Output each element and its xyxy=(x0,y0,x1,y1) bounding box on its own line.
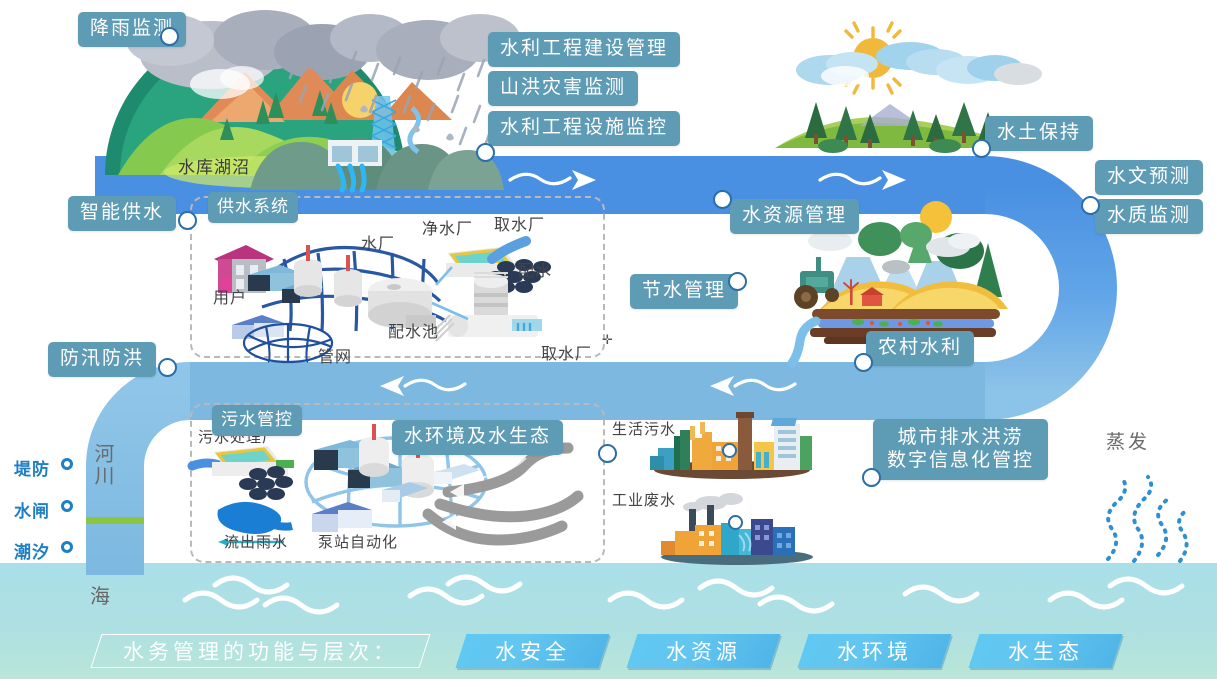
mouse-cursor: ✛ xyxy=(602,332,613,348)
evaporation-icon xyxy=(1090,455,1200,565)
chip-water-saving-management-dot xyxy=(728,272,747,291)
chip-urban-drainage-line2: 数字信息化管控 xyxy=(887,450,1034,471)
tab-water-resource[interactable]: 水资源 xyxy=(626,634,780,668)
chip-urban-drainage-dot xyxy=(862,468,881,487)
industrial-wastewater-label: 工业废水 xyxy=(612,489,676,510)
tide-label: 潮汐 xyxy=(14,538,50,563)
distribution-pool-label: 配水池 xyxy=(388,318,439,342)
bottom-bar-title: 水务管理的功能与层次： xyxy=(90,634,430,668)
pump-station-label: 泵站自动化 xyxy=(318,531,398,552)
tab-water-ecology[interactable]: 水生态 xyxy=(968,634,1122,668)
river-channel-label: 河川 xyxy=(88,443,117,487)
chip-water-resource-management-dot xyxy=(713,190,732,209)
chip-rainfall-monitor-dot xyxy=(160,27,179,46)
user-label: 用户 xyxy=(213,284,247,308)
chip-soil-water-conservation-dot xyxy=(972,139,991,158)
chip-water-env-eco[interactable]: 水环境及水生态 xyxy=(392,420,563,455)
chip-water-quality-monitor[interactable]: 水质监测 xyxy=(1095,199,1203,234)
sluice-marker-icon xyxy=(61,500,73,512)
domestic-sewage-dot xyxy=(722,443,737,458)
sluice-bar xyxy=(86,517,144,524)
sewage-control-chip[interactable]: 污水管控 xyxy=(212,405,302,436)
sea-label: 海 xyxy=(90,580,113,609)
chip-rural-water-dot xyxy=(854,353,873,372)
reservoir-lake-label: 水库湖沼 xyxy=(178,153,250,178)
domestic-sewage-label: 生活污水 xyxy=(612,418,676,439)
chip-flood-control[interactable]: 防汛防洪 xyxy=(48,342,156,377)
chip-hydro-group-dot xyxy=(476,143,495,162)
water-management-diagram: 海 xyxy=(0,0,1217,679)
outflow-rainwater-label: 流出雨水 xyxy=(224,531,288,552)
chip-hydro-facility-monitor[interactable]: 水利工程设施监控 xyxy=(488,111,680,146)
chip-water-resource-management[interactable]: 水资源管理 xyxy=(730,199,859,234)
distribution-label: 配水 xyxy=(518,257,552,281)
intake-plant-top-label: 取水厂 xyxy=(494,211,545,235)
chip-mountain-flood-monitor[interactable]: 山洪灾害监测 xyxy=(488,71,638,106)
water-plant-label: 水厂 xyxy=(361,230,395,254)
chip-rural-water[interactable]: 农村水利 xyxy=(866,331,974,366)
chip-smart-supply[interactable]: 智能供水 xyxy=(68,196,176,231)
dike-label: 堤防 xyxy=(14,455,50,480)
chip-urban-drainage[interactable]: 城市排水洪涝数字信息化管控 xyxy=(873,419,1048,480)
chip-hydrology-group-dot xyxy=(1081,196,1100,215)
dike-marker-icon xyxy=(61,458,73,470)
evaporation-label: 蒸发 xyxy=(1106,427,1150,454)
purification-plant-label: 净水厂 xyxy=(422,215,473,239)
chip-flood-control-dot xyxy=(158,358,177,377)
supply-system-chip[interactable]: 供水系统 xyxy=(208,192,298,223)
chip-soil-water-conservation[interactable]: 水土保持 xyxy=(985,116,1093,151)
industry-scene xyxy=(655,495,815,565)
pipe-network-label: 管网 xyxy=(318,343,352,367)
tab-water-safety[interactable]: 水安全 xyxy=(455,634,609,668)
bottom-legend-bar: 水务管理的功能与层次： 水安全 水资源 水环境 水生态 xyxy=(0,623,1217,679)
intake-plant-bottom-label: 取水厂 xyxy=(541,340,592,364)
sluice-label: 水闸 xyxy=(14,497,50,522)
tide-marker-icon xyxy=(61,541,73,553)
chip-water-saving-management[interactable]: 节水管理 xyxy=(630,274,738,309)
industrial-wastewater-dot xyxy=(728,515,743,530)
chip-smart-supply-dot xyxy=(178,211,197,230)
chip-water-env-eco-dot xyxy=(598,444,617,463)
chip-hydro-project-construction[interactable]: 水利工程建设管理 xyxy=(488,32,680,67)
tab-water-environment[interactable]: 水环境 xyxy=(797,634,951,668)
chip-hydrology-forecast[interactable]: 水文预测 xyxy=(1095,160,1203,195)
chip-urban-drainage-line1: 城市排水洪涝 xyxy=(898,427,1024,448)
